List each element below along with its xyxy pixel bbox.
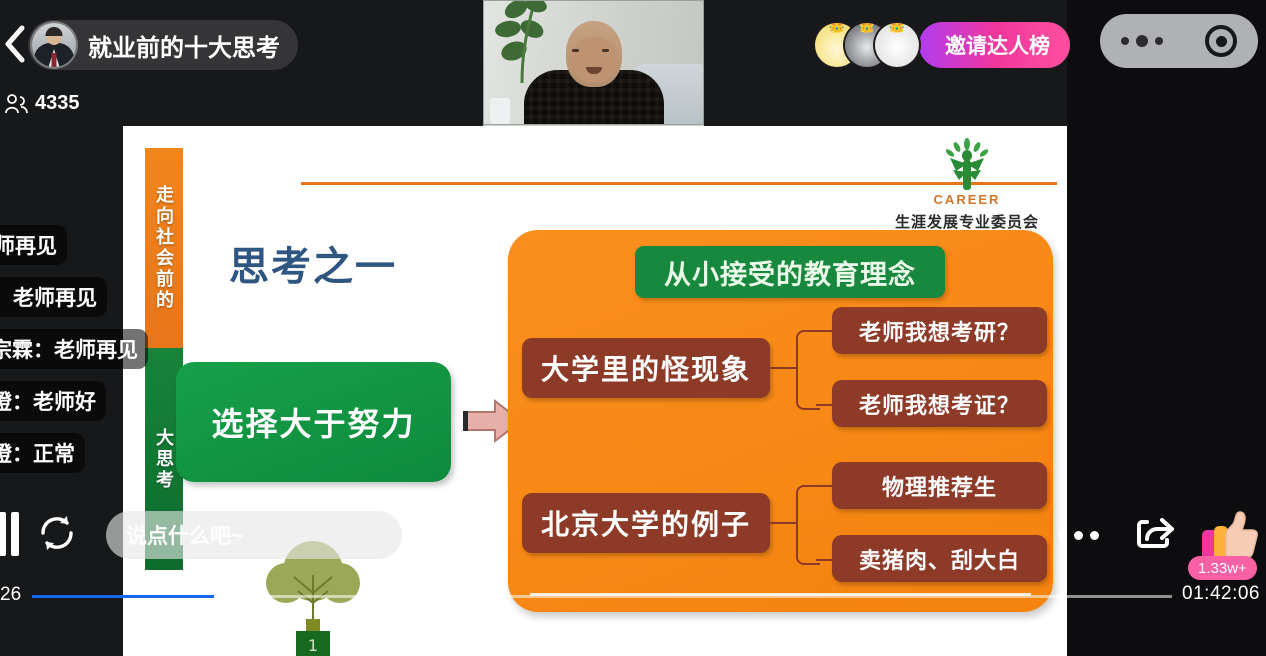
shared-slide: CAREER 生涯发展专业委员会 走向社会前的 大思考 思考之一 选择大于努力 … [123, 126, 1067, 656]
crown-icon: 👑 [828, 23, 845, 32]
list-item: 登噔：正常 [0, 434, 123, 472]
green-statement-box: 选择大于努力 [176, 362, 451, 482]
rank-avatar: 👑 [875, 23, 919, 67]
logo-subtitle: 生涯发展专业委员会 [887, 211, 1047, 232]
list-item: 登噔：老师好 [0, 382, 123, 420]
list-item: 电气贾宗霖：老师再见 [0, 330, 123, 368]
live-stream-player: CAREER 生涯发展专业委员会 走向社会前的 大思考 思考之一 选择大于努力 … [0, 0, 1266, 656]
host-info-pill[interactable]: 就业前的十大思考 [28, 20, 298, 70]
like-count-badge: 1.33w+ [1188, 556, 1257, 580]
connector [770, 367, 798, 369]
panel-group-main: 北京大学的例子 [522, 493, 770, 553]
brace [796, 485, 820, 565]
list-item: 靖风：老师再见 [0, 278, 123, 316]
career-logo: CAREER 生涯发展专业委员会 [887, 138, 1047, 232]
crown-icon: 👑 [888, 23, 905, 32]
connector [770, 522, 798, 524]
chat-message: 登噔：老师好 [0, 381, 106, 421]
slide-title: 思考之一 [229, 234, 397, 292]
avatar [32, 23, 76, 67]
crown-icon: 👑 [858, 23, 875, 32]
invite-rank-badge[interactable]: 👑 👑 👑 邀请达人榜 [815, 20, 1070, 70]
target-icon[interactable] [1205, 25, 1237, 57]
orange-mindmap-panel: 从小接受的教育理念 大学里的怪现象 老师我想考研？ 老师我想考证？ 北京大学的例… [508, 230, 1053, 612]
host-name: 就业前的十大思考 [88, 28, 280, 63]
panel-group-main: 大学里的怪现象 [522, 338, 770, 398]
total-time: 01:42:06 [1182, 583, 1260, 605]
chat-message: 登噔：正常 [0, 433, 85, 473]
chat-message: 电气贾宗霖：老师再见 [0, 329, 148, 369]
chat-message: 靖风：老师再见 [0, 277, 107, 317]
share-icon[interactable] [1130, 508, 1180, 558]
more-dots-icon[interactable] [1121, 35, 1163, 47]
back-chevron-icon[interactable] [2, 24, 28, 64]
logo-wordmark: CAREER [887, 192, 1047, 207]
panel-group-item: 物理推荐生 [832, 462, 1047, 509]
miniprogram-capsule[interactable] [1100, 14, 1258, 68]
tree-person-logo-icon [936, 138, 998, 194]
panel-headline: 从小接受的教育理念 [635, 246, 945, 298]
progress-fill [32, 595, 225, 598]
chat-message-list[interactable]: ：老师再见 靖风：老师再见 电气贾宗霖：老师再见 登噔：老师好 登噔：正常 [0, 226, 123, 486]
vertical-banner-top: 走向社会前的 [145, 148, 183, 348]
refresh-icon[interactable] [36, 512, 78, 554]
chat-message: ：老师再见 [0, 225, 67, 265]
svg-text:1: 1 [308, 636, 318, 655]
panel-group-item: 老师我想考证？ [832, 380, 1047, 427]
brace [796, 330, 820, 410]
people-icon [4, 93, 28, 115]
list-item: ：老师再见 [0, 226, 123, 264]
more-dots-icon[interactable] [1052, 516, 1104, 554]
comment-input[interactable]: 说点什么吧~ [106, 511, 402, 559]
panel-group-item: 老师我想考研？ [832, 307, 1047, 354]
viewer-count-group: 4335 [4, 92, 80, 115]
speaker-video[interactable] [483, 0, 704, 125]
progress-scrollbar[interactable] [32, 595, 1172, 598]
viewer-count: 4335 [35, 92, 80, 115]
pause-icon[interactable] [0, 512, 20, 556]
panel-group-item: 卖猪肉、刮大白 [832, 535, 1047, 582]
invite-rank-label[interactable]: 邀请达人榜 [919, 22, 1070, 68]
elapsed-time: 26 [0, 584, 21, 606]
progress-knob[interactable] [214, 586, 236, 608]
